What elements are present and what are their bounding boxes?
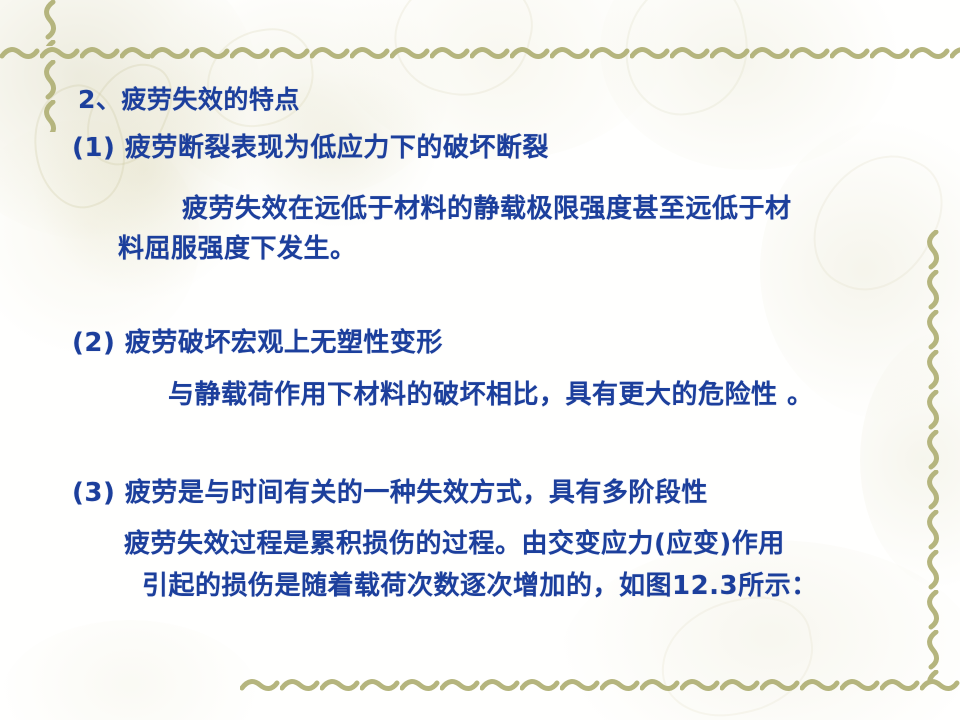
presentation-slide: 2、疲劳失效的特点 (1) 疲劳断裂表现为低应力下的破坏断裂 疲劳失效在远低于材…: [0, 0, 960, 720]
slide-text-content: 2、疲劳失效的特点 (1) 疲劳断裂表现为低应力下的破坏断裂 疲劳失效在远低于材…: [0, 0, 960, 720]
section-3-heading: (3) 疲劳是与时间有关的一种失效方式，具有多阶段性: [72, 472, 708, 509]
section-1-body-line-2: 料屈服强度下发生。: [118, 228, 357, 265]
section-2-body-line-1: 与静载荷作用下材料的破坏相比，具有更大的危险性 。: [168, 374, 814, 411]
slide-title: 2、疲劳失效的特点: [78, 80, 300, 116]
section-3-body-line-1: 疲劳失效过程是累积损伤的过程。由交变应力(应变)作用: [124, 523, 785, 560]
section-1-heading: (1) 疲劳断裂表现为低应力下的破坏断裂: [72, 127, 549, 164]
section-2-heading: (2) 疲劳破坏宏观上无塑性变形: [72, 322, 443, 359]
section-3-body-line-2: 引起的损伤是随着载荷次数逐次增加的，如图12.3所示：: [142, 565, 818, 602]
section-1-body-line-1: 疲劳失效在远低于材料的静载极限强度甚至远低于材: [182, 188, 792, 225]
